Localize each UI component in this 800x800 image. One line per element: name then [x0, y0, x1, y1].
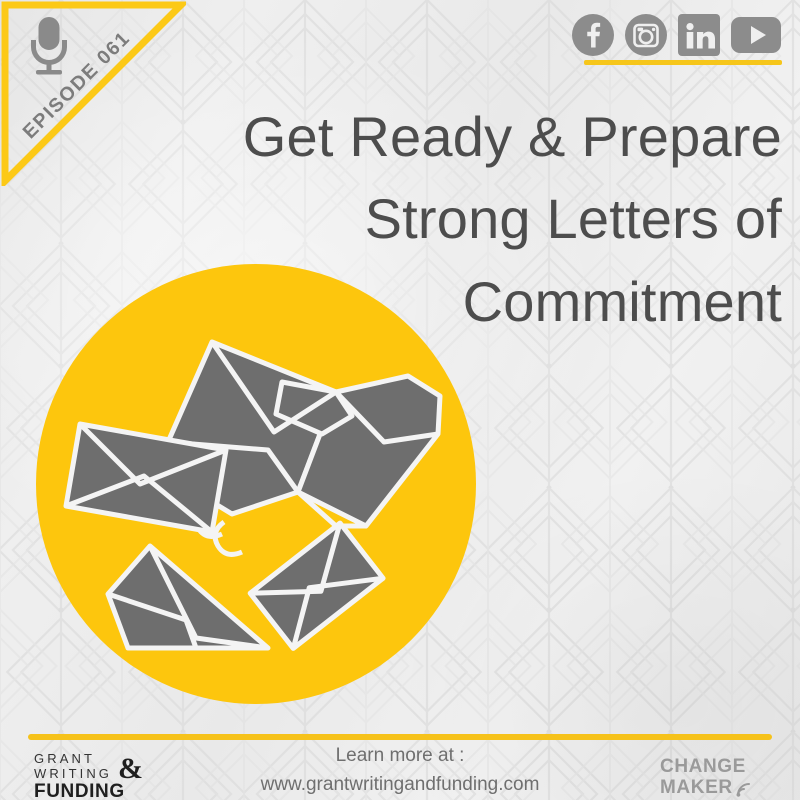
instagram-icon[interactable]: [624, 13, 668, 57]
episode-ribbon: EPISODE 061: [0, 0, 186, 186]
title-line-1: Get Ready & Prepare: [182, 96, 782, 178]
envelope-bottom: [108, 546, 268, 648]
handshake-envelopes-illustration: [36, 264, 476, 704]
youtube-icon[interactable]: [730, 15, 782, 55]
social-links[interactable]: [571, 13, 782, 57]
changemaker-line-1: CHANGE: [660, 756, 790, 777]
facebook-icon[interactable]: [571, 13, 615, 57]
title-line-2: Strong Letters of: [182, 178, 782, 260]
logo-line-funding: FUNDING: [34, 782, 125, 800]
logo-line-writing: WRITING: [34, 766, 125, 781]
social-underline-bar: [584, 60, 782, 65]
handshake-finger-3: [215, 522, 242, 554]
microphone-icon: [27, 17, 79, 75]
footer-divider: [28, 734, 772, 740]
logo-line-grant: GRANT: [34, 751, 125, 766]
linkedin-icon[interactable]: [677, 13, 721, 57]
grant-writing-funding-logo: GRANT WRITING FUNDING &: [34, 751, 214, 797]
changemaker-line-2: MAKER: [660, 777, 733, 798]
podcast-wave-icon: [735, 781, 752, 798]
podcast-cover-art: EPISODE 061 Get Ready & Prepare St: [0, 0, 800, 800]
envelope-right: [250, 523, 383, 648]
logo-ampersand: &: [118, 752, 143, 786]
changemaker-logo: CHANGE MAKER: [660, 756, 790, 800]
